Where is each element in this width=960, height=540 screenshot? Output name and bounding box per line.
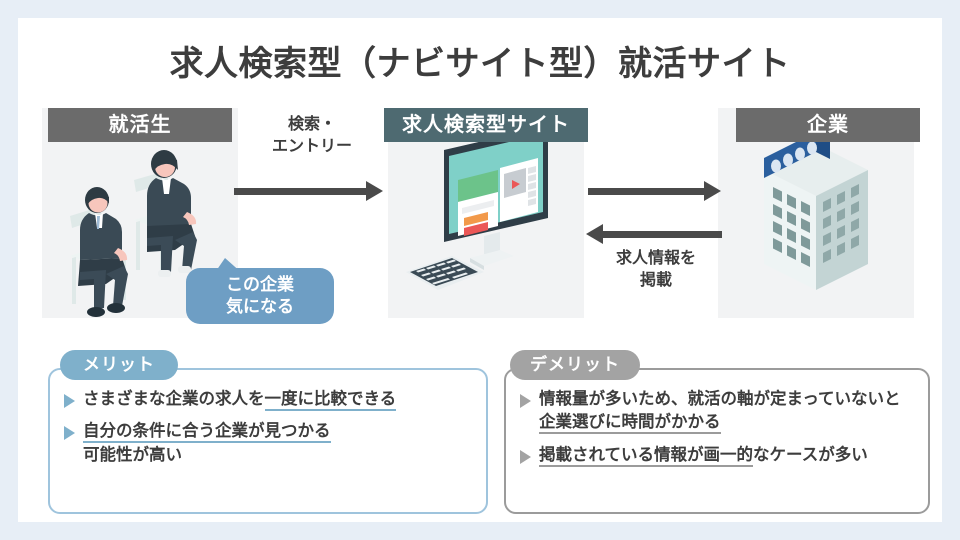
arrow-head-search-entry [366,181,383,201]
demerit-box: 情報量が多いため、就活の軸が定まっていないと企業選びに時間がかかる 掲載されてい… [504,368,930,514]
merit-item-text: さまざまな企業の求人を一度に比較できる [83,388,396,411]
demerit-tab: デメリット [510,350,640,380]
merit-list: さまざまな企業の求人を一度に比較できる 自分の条件に合う企業が見つかる可能性が高… [64,388,474,476]
speech-bubble-line1: この企業 [226,274,294,296]
panel-label-site: 求人検索型サイト [384,108,588,142]
list-item: 自分の条件に合う企業が見つかる可能性が高い [64,420,474,467]
triangle-bullet-icon [520,450,531,464]
arrow-line-post-jobs [602,231,722,238]
arrow-head-site-to-company [704,181,721,201]
merit-tab: メリット [60,350,178,380]
arrow-label-search-entry-line2: エントリー [250,136,374,158]
merit-item-text: 自分の条件に合う企業が見つかる可能性が高い [83,420,331,467]
triangle-bullet-icon [64,426,75,440]
flow-diagram: 就活生 [18,90,942,318]
speech-bubble: この企業 気になる [186,268,334,324]
arrow-label-post-jobs-line1: 求人情報を [586,248,726,270]
triangle-bullet-icon [520,394,531,408]
arrow-label-search-entry-line1: 検索・ [250,114,374,136]
demerit-item-text: 情報量が多いため、就活の軸が定まっていないと企業選びに時間がかかる [539,388,916,435]
arrow-label-post-jobs: 求人情報を 掲載 [586,248,726,291]
demerit-list: 情報量が多いため、就活の軸が定まっていないと企業選びに時間がかかる 掲載されてい… [520,388,916,476]
arrow-head-post-jobs [586,224,603,244]
triangle-bullet-icon [64,394,75,408]
panel-label-companies: 企業 [736,108,920,142]
list-item: さまざまな企業の求人を一度に比較できる [64,388,474,411]
arrow-line-site-to-company [588,188,706,195]
arrow-label-search-entry: 検索・ エントリー [250,114,374,157]
panel-label-students: 就活生 [48,108,232,142]
list-item: 掲載されている情報が画一的なケースが多い [520,444,916,467]
demerit-item-text: 掲載されている情報が画一的なケースが多い [539,444,868,467]
speech-bubble-line2: 気になる [226,296,294,318]
list-item: 情報量が多いため、就活の軸が定まっていないと企業選びに時間がかかる [520,388,916,435]
page-title: 求人検索型（ナビサイト型）就活サイト [18,36,942,85]
slide-card: 求人検索型（ナビサイト型）就活サイト [18,18,942,522]
arrow-label-post-jobs-line2: 掲載 [586,270,726,292]
merit-box: さまざまな企業の求人を一度に比較できる 自分の条件に合う企業が見つかる可能性が高… [48,368,488,514]
arrow-line-search-entry [234,188,368,195]
